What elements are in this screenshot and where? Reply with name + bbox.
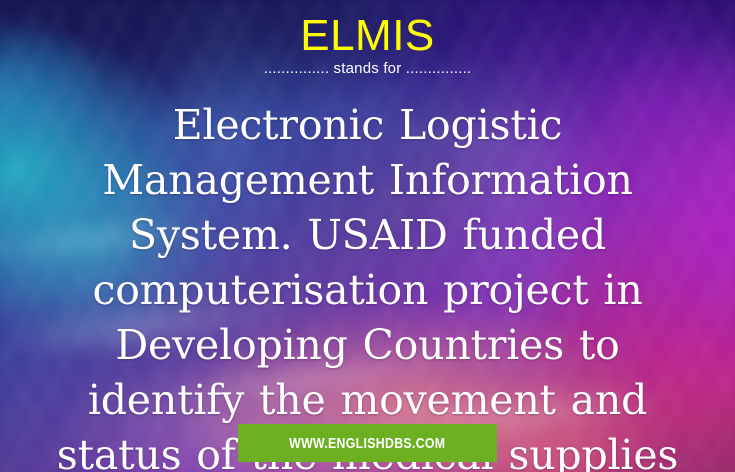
website-cta-label: WWW.ENGLISHDBS.COM <box>289 435 445 452</box>
acronym-definition: Electronic Logistic Management Informati… <box>40 98 695 472</box>
acronym-title: ELMIS <box>0 11 735 61</box>
card-content: ELMIS ............... stands for .......… <box>0 0 735 472</box>
website-cta-button[interactable]: WWW.ENGLISHDBS.COM <box>238 424 497 462</box>
acronym-card: ELMIS ............... stands for .......… <box>0 0 735 472</box>
stands-for-label: ............... stands for .............… <box>0 59 735 79</box>
